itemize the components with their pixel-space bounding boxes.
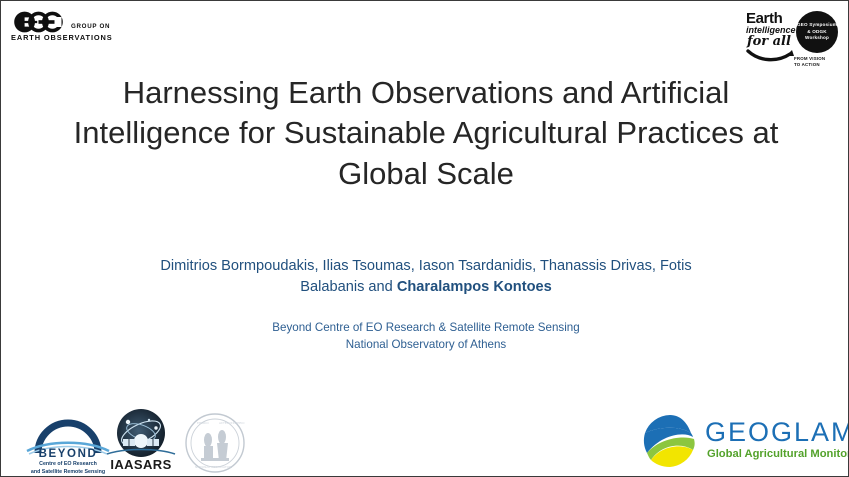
title-line-2: Intelligence for Sustainable Agricultura… [41,113,811,153]
iaasars-emblem-icon [105,408,177,460]
from-vision-to-action-tagline: FROM VISION TO ACTION [794,56,838,68]
svg-text:NATIONAL OBSERVATORY: NATIONAL OBSERVATORY [195,465,233,469]
iaasars-logo-name: IAASARS [105,458,177,471]
iaasars-logo: IAASARS [105,408,177,476]
title-line-3: Global Scale [41,154,811,194]
geoglam-logo-tagline: Global Agricultural Monitoring [707,449,849,460]
title-line-1: Harnessing Earth Observations and Artifi… [41,73,811,113]
beyond-logo-subtitle: Centre of EO Research and Satellite Remo… [19,461,117,476]
curved-arrow-icon [746,48,796,62]
author-line-2-prefix: Balabanis and [300,279,397,295]
author-line-2: Balabanis and Charalampos Kontoes [71,277,781,298]
geoglam-leaf-globe-icon [641,413,699,469]
beyond-logo-name: BEYOND [25,449,111,461]
national-observatory-of-athens-seal: ΕΘΝΙΚΟ ΑΣΤΕΡΟΣΚΟΠΕΙΟ NATIONAL OBSERVATOR… [183,412,247,474]
tagline-line2: TO ACTION [794,62,838,68]
slide-title: Harnessing Earth Observations and Artifi… [41,73,811,194]
earth-intelligence-for-all-logo: Earth intelligence for all GEO Symposium… [744,7,840,69]
eifa-word-for-all: for all [747,35,791,48]
geoglam-logo: GEOGLAM Global Agricultural Monitoring [641,413,841,471]
geo-mark-icon [11,11,69,33]
svg-text:ΑΣΤΕΡΟΣΚΟΠΕΙΟ: ΑΣΤΕΡΟΣΚΟΠΕΙΟ [219,421,245,425]
affiliation: Beyond Centre of EO Research & Satellite… [121,319,731,354]
noa-seal-icon: ΕΘΝΙΚΟ ΑΣΤΕΡΟΣΚΟΠΕΙΟ NATIONAL OBSERVATOR… [183,412,247,474]
affiliation-line-2: National Observatory of Athens [121,336,731,353]
geoglam-logo-name: GEOGLAM [705,419,849,446]
geo-logo-line2: EARTH OBSERVATIONS [11,34,113,41]
geo-symposium-badge: GEO Symposium & ODGK Workshop [796,11,838,53]
beyond-sub-line1: Centre of EO Research [19,461,117,469]
author-line-1: Dimitrios Bormpoudakis, Ilias Tsoumas, I… [71,256,781,277]
affiliation-line-1: Beyond Centre of EO Research & Satellite… [121,319,731,336]
author-presenter-name: Charalampos Kontoes [397,279,552,295]
geo-logo-line1: GROUP ON [71,24,110,30]
beyond-logo: BEYOND Centre of EO Research and Satelli… [25,411,111,475]
presentation-slide: GROUP ON EARTH OBSERVATIONS Earth intell… [0,0,849,477]
svg-text:ΕΘΝΙΚΟ: ΕΘΝΙΚΟ [197,421,209,425]
author-list: Dimitrios Bormpoudakis, Ilias Tsoumas, I… [71,256,781,298]
geo-logo: GROUP ON EARTH OBSERVATIONS [11,11,201,47]
eifa-word-earth: Earth [746,11,782,26]
beyond-sub-line2: and Satellite Remote Sensing [19,469,117,477]
